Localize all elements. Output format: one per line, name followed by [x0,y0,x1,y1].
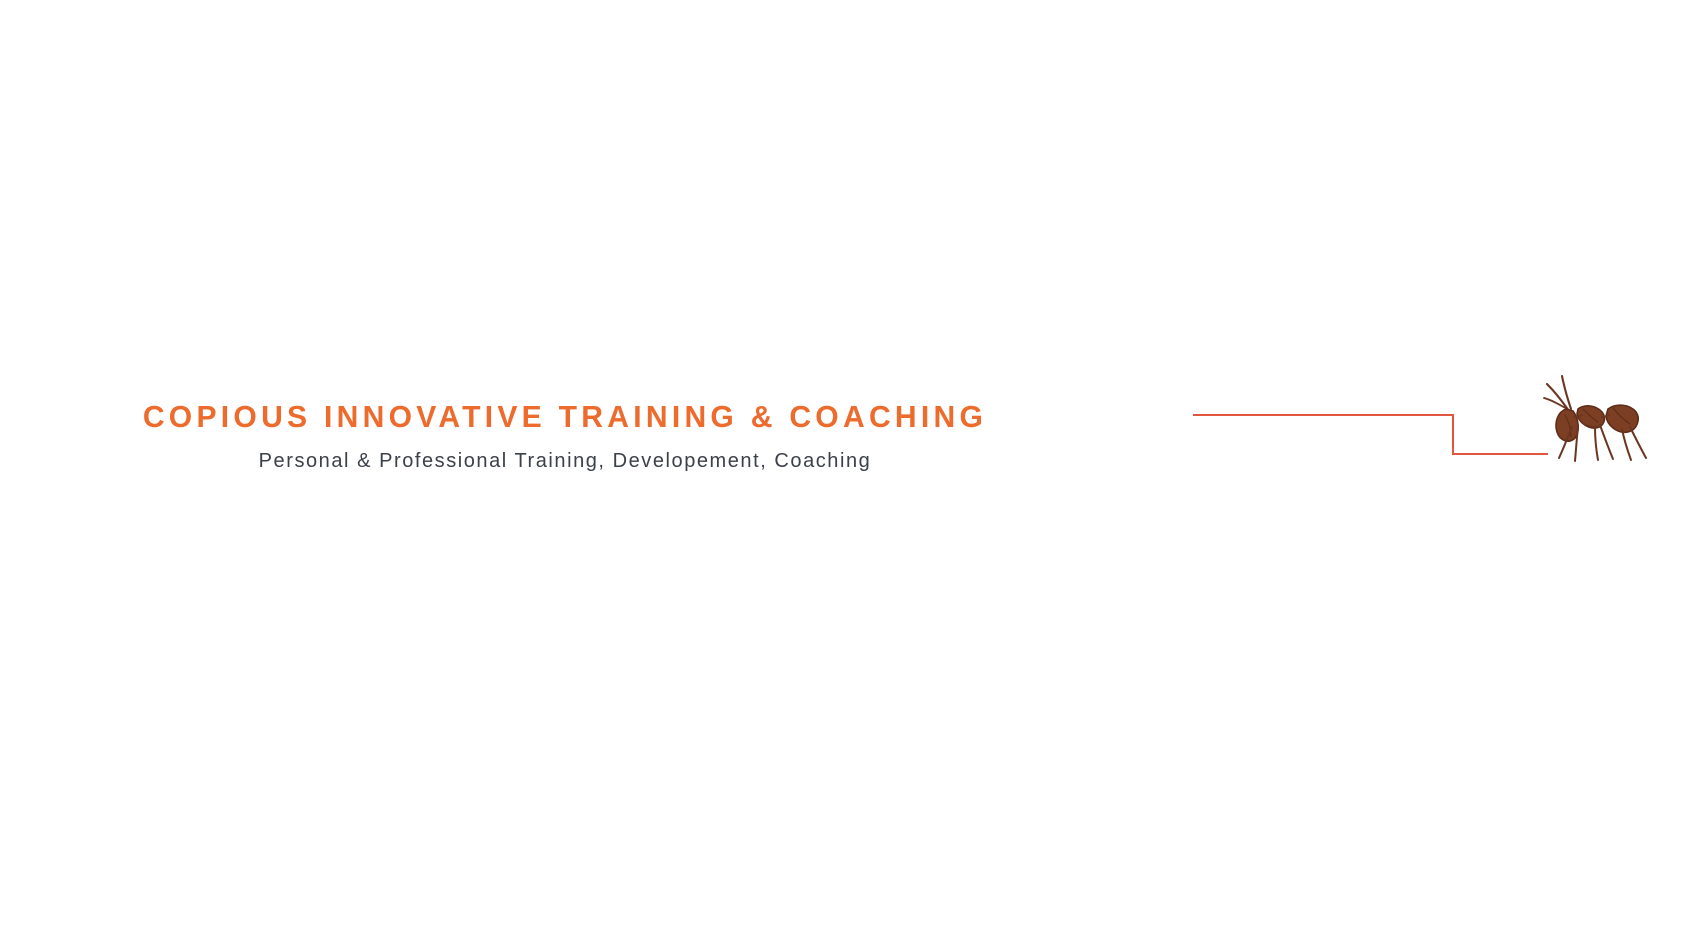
ant-icon [1538,365,1653,470]
vertical-connector-rule [1452,414,1454,455]
brand-wordmark: COPIOUS INNOVATIVE TRAINING & COACHING P… [0,400,1130,474]
page-canvas: COPIOUS INNOVATIVE TRAINING & COACHING P… [0,0,1687,949]
page-title: COPIOUS INNOVATIVE TRAINING & COACHING [17,400,1113,434]
lower-horizontal-rule [1452,453,1548,455]
brand-tagline: Personal & Professional Training, Develo… [0,448,1130,474]
upper-horizontal-rule [1193,414,1454,416]
